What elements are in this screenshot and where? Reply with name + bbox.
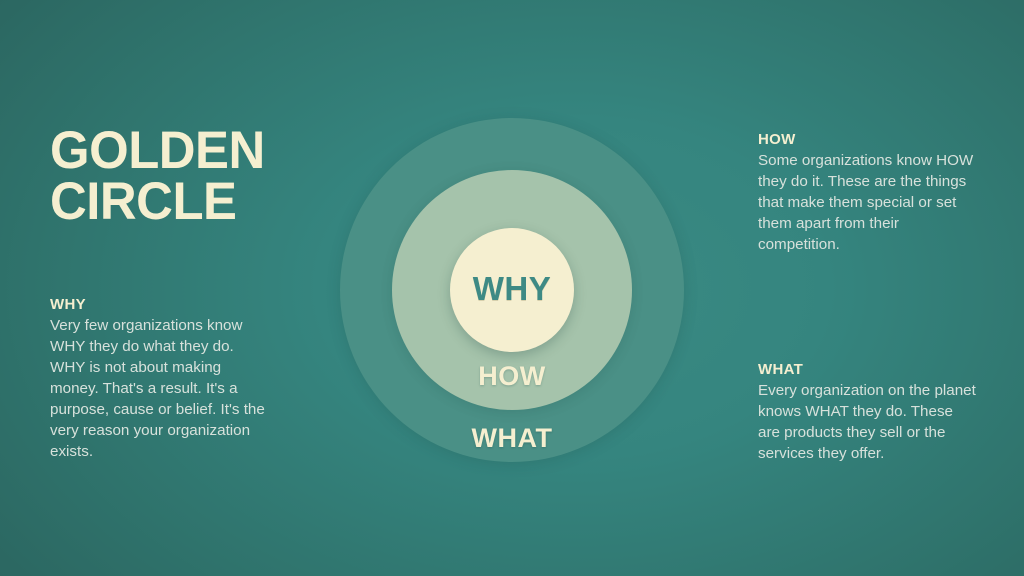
description-heading-what: WHAT — [758, 361, 976, 378]
description-heading-how: HOW — [758, 131, 976, 148]
description-heading-why: WHY — [50, 296, 265, 313]
description-body-why: Very few organizations know WHY they do … — [50, 316, 265, 463]
page-title: GOLDEN CIRCLE — [50, 125, 338, 228]
ring-label-how: HOW — [478, 361, 545, 392]
description-body-what: Every organization on the planet knows W… — [758, 381, 976, 465]
description-block-why: WHY Very few organizations know WHY they… — [50, 296, 265, 463]
page-title-line-1: GOLDEN — [50, 125, 338, 176]
page-title-line-2: CIRCLE — [50, 176, 338, 227]
description-block-what: WHAT Every organization on the planet kn… — [758, 361, 976, 465]
description-body-how: Some organizations know HOW they do it. … — [758, 151, 976, 256]
ring-label-why: WHY — [473, 270, 552, 308]
ring-label-what: WHAT — [472, 423, 553, 454]
golden-circle-slide: GOLDEN CIRCLE WHY HOW WHAT WHY Very few … — [0, 0, 1024, 576]
description-block-how: HOW Some organizations know HOW they do … — [758, 131, 976, 256]
